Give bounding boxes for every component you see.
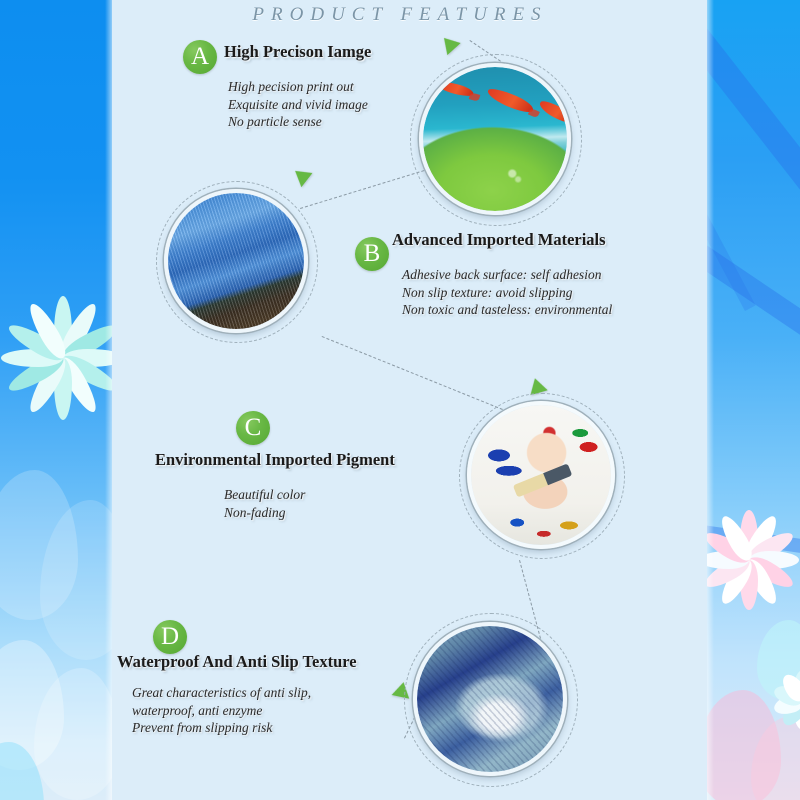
feature-d-bullet-3: Prevent from slipping risk	[132, 719, 311, 737]
left-decorative-border	[0, 0, 112, 800]
feature-a-bullet-2: Exquisite and vivid image	[228, 96, 368, 114]
right-decorative-border	[707, 0, 800, 800]
badge-b: B	[355, 237, 389, 271]
feature-d-bullet-2: waterproof, anti enzyme	[132, 702, 311, 720]
badge-a: A	[183, 40, 217, 74]
koi-pond-print-photo	[423, 67, 567, 211]
feature-d-title: Waterproof And Anti Slip Texture	[117, 652, 357, 672]
right-ribbon-2	[707, 205, 800, 391]
feature-c-title: Environmental Imported Pigment	[155, 450, 395, 470]
feature-b-bullet-1: Adhesive back surface: self adhesion	[402, 266, 612, 284]
feature-c-bullet-2: Non-fading	[224, 504, 305, 522]
feature-b-bullet-3: Non toxic and tasteless: environmental	[402, 301, 612, 319]
paintbrush	[513, 463, 572, 497]
koi-fish-1	[486, 85, 536, 117]
photo-a-frame	[419, 63, 571, 215]
right-ribbon-1	[707, 0, 800, 195]
feature-a-bullet-3: No particle sense	[228, 113, 368, 131]
feature-b-bullet-2: Non slip texture: avoid slipping	[402, 284, 612, 302]
feature-c-bullet-1: Beautiful color	[224, 486, 305, 504]
feature-b-title: Advanced Imported Materials	[392, 230, 606, 250]
feature-a-title: High Precison Iamge	[224, 42, 371, 62]
feature-b-bullets: Adhesive back surface: self adhesion Non…	[402, 266, 612, 319]
blue-fabric-material-photo	[168, 193, 304, 329]
photo-b-frame	[164, 189, 308, 333]
feature-d-bullet-1: Great characteristics of anti slip,	[132, 684, 311, 702]
badge-c: C	[236, 411, 270, 445]
feature-a-bullets: High pecision print out Exquisite and vi…	[228, 78, 368, 131]
feature-c-bullets: Beautiful color Non-fading	[224, 486, 305, 521]
feature-a-bullet-1: High pecision print out	[228, 78, 368, 96]
painting-baby-photo	[471, 405, 611, 545]
feature-d-bullets: Great characteristics of anti slip, wate…	[132, 684, 311, 737]
photo-c-frame	[467, 401, 615, 549]
product-features-poster: PRODUCT FEATURES A High Precison Iamge H…	[0, 0, 800, 800]
page-title: PRODUCT FEATURES	[0, 4, 800, 26]
photo-d-frame	[413, 622, 567, 776]
badge-d: D	[153, 620, 187, 654]
koi-fish-2	[437, 79, 476, 99]
water-droplet-texture-photo	[417, 626, 563, 772]
